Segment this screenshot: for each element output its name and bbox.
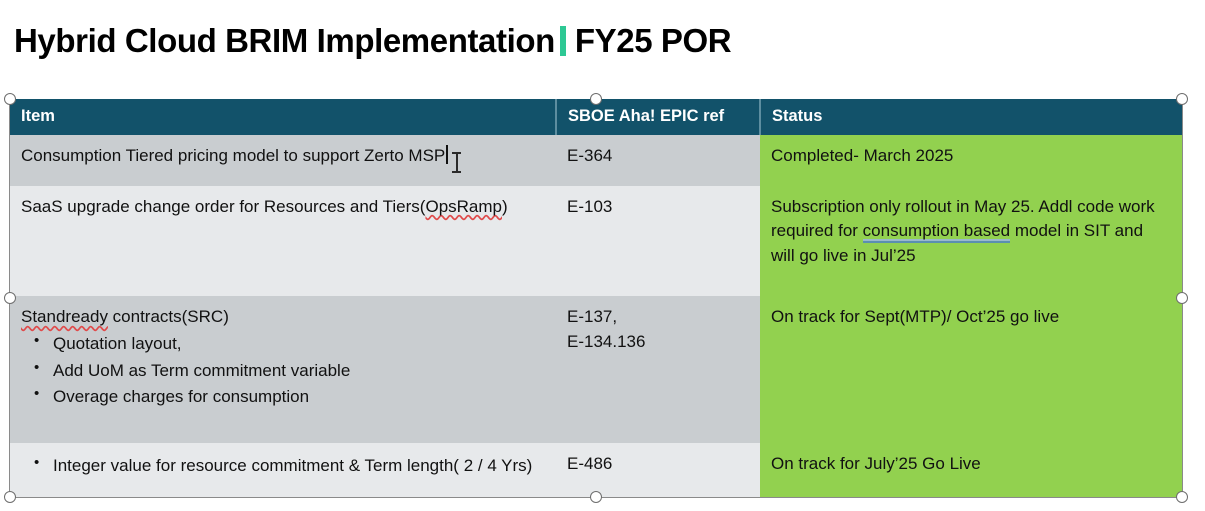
list-item: Overage charges for consumption (21, 384, 545, 410)
ref-line: E-364 (567, 144, 749, 169)
cell-item[interactable]: Integer value for resource commitment & … (10, 443, 556, 497)
ref-line: E-134.136 (567, 330, 749, 355)
cell-ref[interactable]: E-486 (556, 443, 760, 497)
ref-line: E-137, (567, 305, 749, 330)
list-item: Add UoM as Term commitment variable (21, 358, 545, 384)
page-title-main: Hybrid Cloud BRIM Implementation (14, 22, 555, 60)
cell-item[interactable]: Consumption Tiered pricing model to supp… (10, 135, 556, 186)
misspelled-word: OpsRamp (425, 197, 502, 216)
cell-status[interactable]: On track for July’25 Go Live (760, 443, 1182, 497)
status-text: On track for Sept(MTP)/ Oct’25 go live (771, 307, 1059, 326)
cell-status[interactable]: Subscription only rollout in May 25. Add… (760, 186, 1182, 297)
page-title: Hybrid Cloud BRIM Implementation FY25 PO… (14, 18, 731, 64)
status-text: Completed- March 2025 (771, 146, 953, 165)
selection-edge-bottom (10, 497, 1182, 498)
table-row[interactable]: SaaS upgrade change order for Resources … (10, 186, 1182, 297)
status-table[interactable]: Item SBOE Aha! EPIC ref Status Consumpti… (10, 99, 1182, 497)
column-header-ref[interactable]: SBOE Aha! EPIC ref (556, 99, 760, 135)
item-bullet-list: Integer value for resource commitment & … (21, 453, 545, 479)
table-row[interactable]: Integer value for resource commitment & … (10, 443, 1182, 497)
cell-ref[interactable]: E-364 (556, 135, 760, 186)
table-header-row: Item SBOE Aha! EPIC ref Status (10, 99, 1182, 135)
list-item: Integer value for resource commitment & … (21, 453, 545, 479)
table-row[interactable]: Standready contracts(SRC) Quotation layo… (10, 296, 1182, 443)
misspelled-word: Standready (21, 307, 108, 326)
cell-item[interactable]: SaaS upgrade change order for Resources … (10, 186, 556, 297)
ref-line: E-103 (567, 195, 749, 220)
item-lead-text-tail: contracts(SRC) (108, 307, 229, 326)
status-text: On track for July’25 Go Live (771, 454, 981, 473)
item-lead-text: Consumption Tiered pricing model to supp… (21, 146, 445, 165)
cell-status[interactable]: Completed- March 2025 (760, 135, 1182, 186)
cell-item[interactable]: Standready contracts(SRC) Quotation layo… (10, 296, 556, 443)
selection-edge-right (1182, 99, 1183, 497)
status-smart-link[interactable]: consumption based (863, 221, 1010, 243)
text-caret (446, 145, 448, 164)
column-header-status[interactable]: Status (760, 99, 1182, 135)
list-item: Quotation layout, (21, 331, 545, 357)
cell-ref[interactable]: E-103 (556, 186, 760, 297)
column-header-item[interactable]: Item (10, 99, 556, 135)
table-row[interactable]: Consumption Tiered pricing model to supp… (10, 135, 1182, 186)
ref-line: E-486 (567, 452, 749, 477)
cell-ref[interactable]: E-137, E-134.136 (556, 296, 760, 443)
title-divider-bar (560, 26, 566, 56)
status-table-container[interactable]: Item SBOE Aha! EPIC ref Status Consumpti… (10, 99, 1182, 497)
cell-status[interactable]: On track for Sept(MTP)/ Oct’25 go live (760, 296, 1182, 443)
item-lead-text-tail: ) (502, 197, 508, 216)
page-title-tail: FY25 POR (575, 22, 731, 60)
item-bullet-list: Quotation layout, Add UoM as Term commit… (21, 331, 545, 410)
item-lead-text: SaaS upgrade change order for Resources … (21, 197, 425, 216)
